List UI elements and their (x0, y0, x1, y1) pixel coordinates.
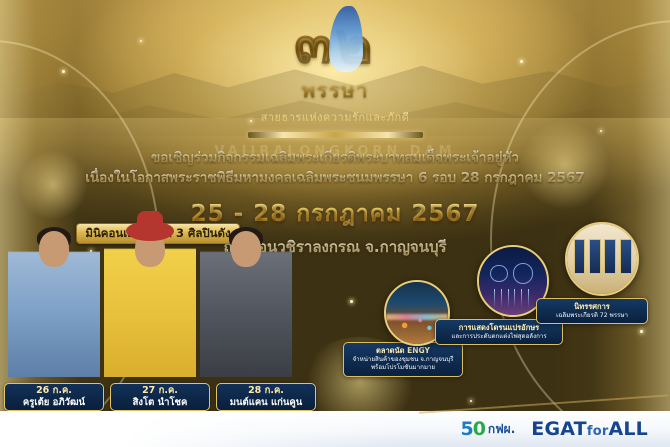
headline-line-1: ขอเชิญร่วมกิจกรรมเฉลิมพระเกียรติพระบาทสม… (0, 148, 670, 168)
egat-wordmark: EGAT (531, 418, 587, 440)
market-caption: ตลาดนัด ENGY จำหน่ายสินค้าของชุมชน จ.กาญ… (343, 342, 463, 377)
exhibition-caption-line-2: เฉลิมพระเกียรติ 72 พรรษา (543, 312, 641, 320)
mini-concert-section: มินิคอนเสิร์ต จาก 3 ศิลปินดัง 26 ก.ค. คร… (4, 221, 324, 411)
headline-line-2: เนื่องในโอกาสพระราชพิธีมหามงคลเฉลิมพระชน… (0, 168, 670, 188)
concert-card-date: 27 ก.ค. (142, 386, 178, 397)
artist-photo-3 (200, 227, 292, 377)
egat-50-number: 50 (460, 418, 484, 440)
drone-caption-line-1: การแสดงโดรนแปรอักษร (442, 323, 556, 333)
emblem-subtitle-secondary: สายธารแห่งความรักและภักดี (0, 108, 670, 126)
artist-photo-1 (8, 227, 100, 377)
exhibition-caption-line-1: นิทรรศการ (543, 302, 641, 312)
artist-photo-2 (104, 227, 196, 377)
egat-50th-logo: 50 กฟผ. (460, 418, 515, 440)
concert-date-card-list: 26 ก.ค. ครูเต้ย อภิวัฒน์ 27 ก.ค. สิงโต น… (4, 383, 316, 411)
sparkle (350, 300, 353, 303)
emblem-divider-bar (248, 132, 423, 138)
market-caption-line-3: พร้อมโปรโมชันมากมาย (350, 364, 456, 372)
event-poster: ๓๒ พรรษา สายธารแห่งความรักและภักดี VAJIR… (0, 0, 670, 447)
egat-thai-abbrev: กฟผ. (488, 420, 515, 439)
emblem-subtitle-primary: พรรษา (0, 74, 670, 107)
exhibition-caption: นิทรรศการ เฉลิมพระเกียรติ 72 พรรษา (536, 298, 648, 324)
event-emblem: ๓๒ พรรษา สายธารแห่งความรักและภักดี VAJIR… (0, 16, 670, 159)
concert-card-date: 28 ก.ค. (248, 386, 284, 397)
footer-logo-bar: 50 กฟผ. EGATforALL (0, 411, 670, 447)
feature-drone-show[interactable]: การแสดงโดรนแปรอักษร และการประดับตกแต่งไฟ… (463, 245, 563, 345)
drone-caption-line-2: และการประดับตกแต่งไฟสุดอลังการ (442, 333, 556, 341)
sparkle (640, 330, 643, 333)
egat-all-word: ALL (608, 418, 648, 440)
concert-card-artist: มนต์แคน แก่นคูน (230, 397, 302, 408)
egat-for-all-logo: EGATforALL (531, 418, 648, 440)
concert-card-date: 26 ก.ค. (36, 386, 72, 397)
concert-date-card[interactable]: 28 ก.ค. มนต์แคน แก่นคูน (216, 383, 316, 411)
red-hat-icon (126, 221, 174, 241)
concert-date-card[interactable]: 27 ก.ค. สิงโต นำโชค (110, 383, 210, 411)
egat-50-zero: 0 (473, 418, 485, 440)
egat-for-word: for (587, 424, 609, 439)
exhibition-photo-circle (565, 222, 639, 296)
concert-card-artist: ครูเต้ย อภิวัฒน์ (23, 397, 85, 408)
concert-date-card[interactable]: 26 ก.ค. ครูเต้ย อภิวัฒน์ (4, 383, 104, 411)
feature-exhibition[interactable]: นิทรรศการ เฉลิมพระเกียรติ 72 พรรษา (555, 222, 648, 324)
sparkle (470, 400, 472, 402)
market-caption-line-1: ตลาดนัด ENGY (350, 346, 456, 356)
concert-card-artist: สิงโต นำโชค (133, 397, 188, 408)
